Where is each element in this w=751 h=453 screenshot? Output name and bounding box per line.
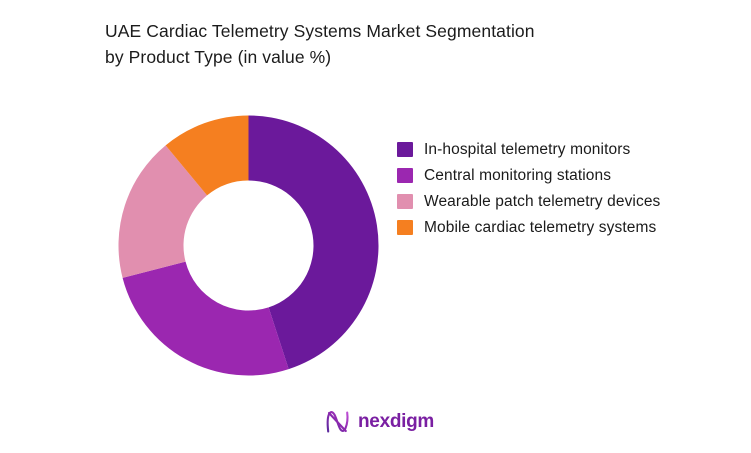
donut-slice[interactable] (123, 262, 289, 376)
legend-color-swatch (397, 168, 413, 183)
legend-item-label: Central monitoring stations (424, 164, 611, 188)
donut-slice-group (119, 116, 379, 376)
legend-color-swatch (397, 142, 413, 157)
chart-title: UAE Cardiac Telemetry Systems Market Seg… (105, 18, 665, 70)
brand-logo: nexdigm (325, 408, 434, 436)
chart-legend: In-hospital telemetry monitorsCentral mo… (397, 138, 687, 242)
donut-chart (118, 115, 379, 376)
legend-item[interactable]: Wearable patch telemetry devices (397, 190, 687, 214)
legend-item-label: In-hospital telemetry monitors (424, 138, 630, 162)
legend-item-label: Mobile cardiac telemetry systems (424, 216, 656, 240)
legend-item[interactable]: Mobile cardiac telemetry systems (397, 216, 687, 240)
brand-name: nexdigm (358, 410, 434, 434)
legend-item-label: Wearable patch telemetry devices (424, 190, 660, 214)
legend-color-swatch (397, 194, 413, 209)
legend-item[interactable]: In-hospital telemetry monitors (397, 138, 687, 162)
nexdigm-n-mark-icon (325, 410, 351, 434)
chart-card: UAE Cardiac Telemetry Systems Market Seg… (0, 0, 751, 453)
legend-color-swatch (397, 220, 413, 235)
donut-chart-svg (118, 115, 379, 376)
legend-item[interactable]: Central monitoring stations (397, 164, 687, 188)
